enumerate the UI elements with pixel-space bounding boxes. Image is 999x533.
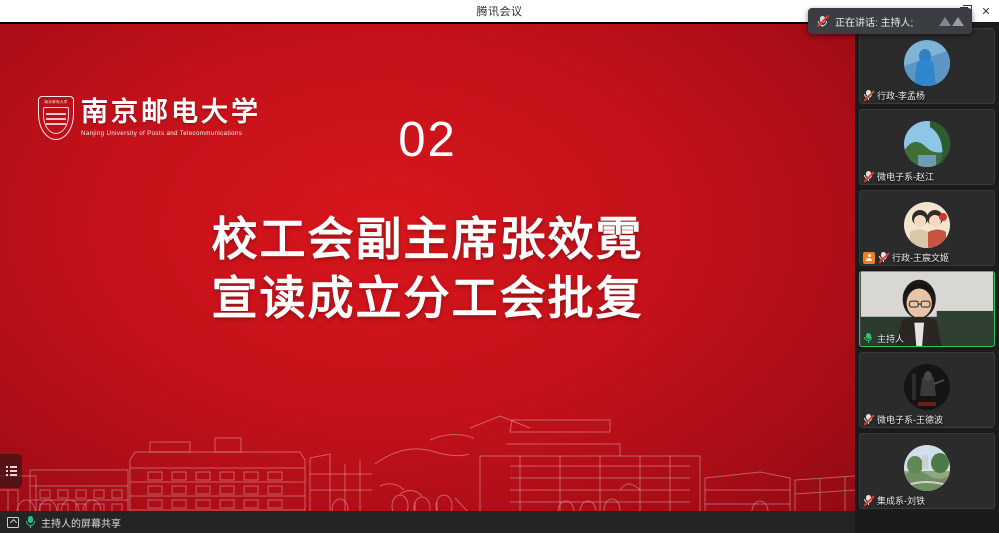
presentation-tools-tab[interactable] xyxy=(0,454,22,488)
tencent-meeting-logo-icon xyxy=(939,17,964,26)
presentation-slide: 南京邮电大学 南京邮电大学 Nanjing University of Post… xyxy=(0,24,855,529)
avatar xyxy=(904,40,950,86)
headline-line-2: 宣读成立分工会批复 xyxy=(0,269,855,328)
participant-name: 微电子系-王德波 xyxy=(877,413,943,426)
screen-share-icon xyxy=(7,517,19,528)
mic-off-icon xyxy=(863,90,874,102)
mic-off-icon xyxy=(878,252,889,264)
avatar xyxy=(904,364,950,410)
slide-section-number: 02 xyxy=(0,112,855,168)
host-badge-icon xyxy=(863,252,875,264)
avatar xyxy=(904,121,950,167)
avatar xyxy=(904,202,950,248)
participant-tile[interactable]: 微电子系-赵江 xyxy=(859,109,995,185)
mic-off-icon xyxy=(863,171,874,183)
participant-tile[interactable]: 集成系-刘铁 xyxy=(859,433,995,509)
participant-name-bar: 集成系-刘铁 xyxy=(860,493,928,508)
participant-name-bar: 微电子系-赵江 xyxy=(860,169,937,184)
participant-name: 微电子系-赵江 xyxy=(877,170,934,183)
tencent-meeting-window: 腾讯会议 ✕ 正在讲话: 主持人; 南京邮电大学 南京邮电大学 Nanjing … xyxy=(0,0,999,533)
participant-name: 集成系-刘铁 xyxy=(877,494,925,507)
participant-name-bar: 行政-李孟杨 xyxy=(860,88,928,103)
participant-tile[interactable]: 行政-王宸文姬 xyxy=(859,190,995,266)
participant-tile[interactable]: 行政-李孟杨 xyxy=(859,28,995,104)
mic-off-icon xyxy=(863,414,874,426)
close-icon[interactable]: ✕ xyxy=(975,0,997,22)
speaking-toast-label: 正在讲话: 主持人; xyxy=(835,14,913,29)
participant-tile-active-speaker[interactable]: 主持人 xyxy=(859,271,995,347)
participant-rail[interactable]: 行政-李孟杨 微电子系-赵江 xyxy=(855,22,999,533)
share-status-label: 主持人的屏幕共享 xyxy=(41,515,121,530)
mic-on-icon xyxy=(24,516,36,529)
share-status-bar: 主持人的屏幕共享 xyxy=(0,511,855,533)
speaking-toast[interactable]: 正在讲话: 主持人; xyxy=(808,8,972,34)
list-menu-icon xyxy=(6,464,17,478)
participant-name: 行政-李孟杨 xyxy=(877,89,925,102)
mic-off-icon xyxy=(863,495,874,507)
avatar xyxy=(904,445,950,491)
mic-off-icon xyxy=(816,15,829,28)
shared-screen-stage[interactable]: 南京邮电大学 南京邮电大学 Nanjing University of Post… xyxy=(0,22,855,511)
participant-name-bar: 微电子系-王德波 xyxy=(860,412,946,427)
mic-on-icon xyxy=(863,333,874,345)
participant-name: 行政-王宸文姬 xyxy=(892,251,949,264)
participant-name-bar: 行政-王宸文姬 xyxy=(860,250,952,265)
participant-tile[interactable]: 微电子系-王德波 xyxy=(859,352,995,428)
campus-skyline-illustration xyxy=(0,394,855,529)
participant-name: 主持人 xyxy=(877,332,904,345)
participant-name-bar: 主持人 xyxy=(860,331,907,346)
slide-headline: 校工会副主席张效霓 宣读成立分工会批复 xyxy=(0,210,855,328)
window-title: 腾讯会议 xyxy=(477,3,523,19)
headline-line-1: 校工会副主席张效霓 xyxy=(0,210,855,269)
